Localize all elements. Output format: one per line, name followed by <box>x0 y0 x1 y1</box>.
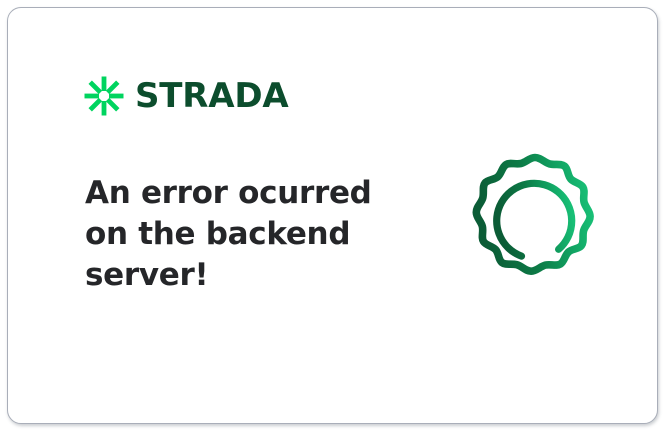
brand-wordmark: STRADA <box>135 79 289 113</box>
error-page-screen: STRADA An error ocurred on the backend s… <box>0 0 666 436</box>
open-circle-arc-icon <box>497 183 572 256</box>
error-card: STRADA An error ocurred on the backend s… <box>7 7 658 424</box>
strada-asterisk-icon <box>84 76 124 116</box>
gear-cog-icon <box>452 144 618 310</box>
error-headline: An error ocurred on the backend server! <box>85 173 385 296</box>
brand-logo: STRADA <box>84 76 289 116</box>
